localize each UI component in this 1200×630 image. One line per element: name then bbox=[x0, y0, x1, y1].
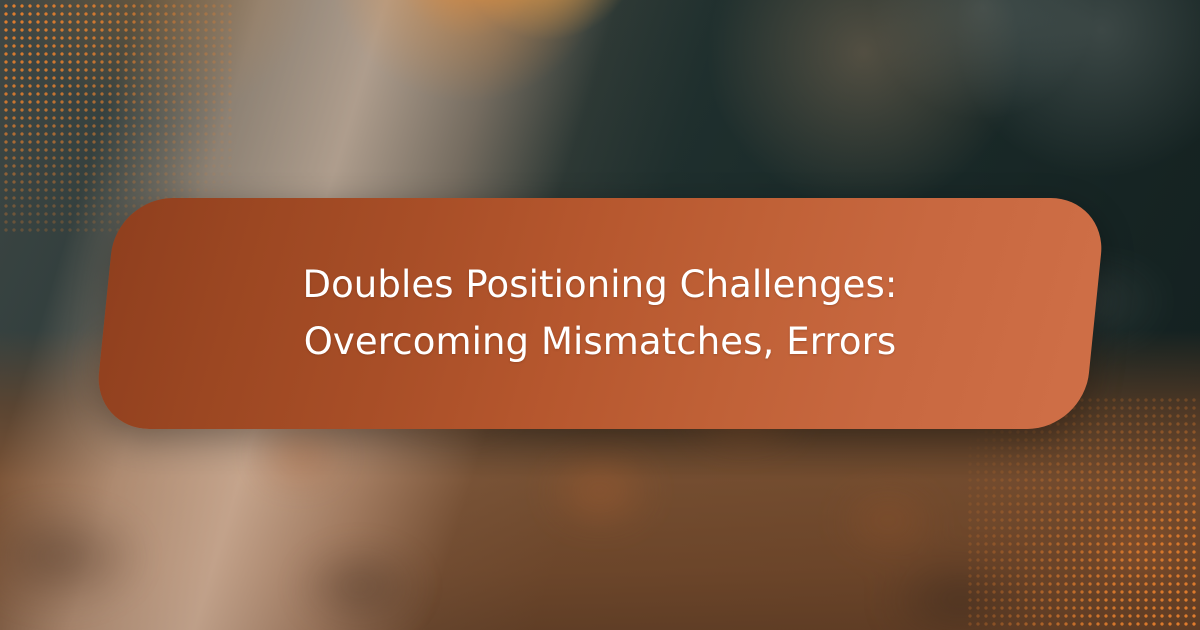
title-card: Doubles Positioning Challenges: Overcomi… bbox=[105, 198, 1095, 429]
social-card-canvas: Doubles Positioning Challenges: Overcomi… bbox=[0, 0, 1200, 630]
title-card-content: Doubles Positioning Challenges: Overcomi… bbox=[105, 198, 1095, 429]
page-title: Doubles Positioning Challenges: Overcomi… bbox=[210, 257, 990, 369]
